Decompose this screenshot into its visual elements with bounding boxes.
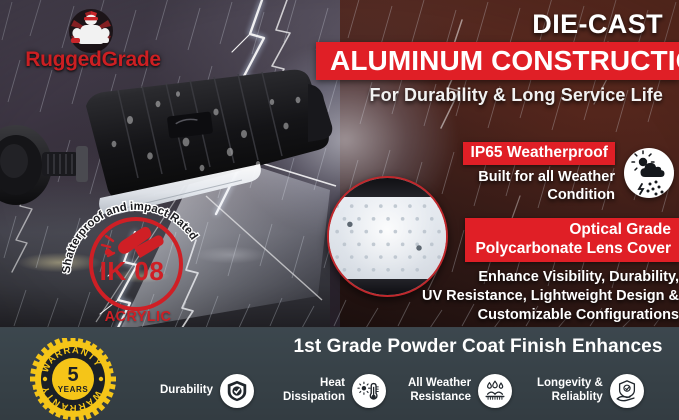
- product-feature-graphic: RuggedGrade: [0, 0, 679, 420]
- feature-label: Longevity & Reliablity: [537, 377, 603, 405]
- feature-label: Durability: [160, 384, 213, 398]
- ik08-rating: IK 08: [89, 258, 175, 284]
- warranty-unit: YEARS: [58, 385, 89, 394]
- feature-heat-dissipation: Heat Dissipation: [283, 374, 386, 408]
- sun-cloud-rain-icon: [624, 148, 674, 198]
- ip65-desc-line2: Condition: [452, 187, 615, 205]
- feature-bar-title: 1st Grade Powder Coat Finish Enhances: [286, 336, 670, 358]
- thermometer-sun-icon: [352, 374, 386, 408]
- ip65-text-block: IP65 Weatherproof Built for all Weather …: [452, 142, 615, 204]
- warranty-number: 5: [67, 364, 78, 386]
- ip65-badge: IP65 Weatherproof: [463, 142, 615, 165]
- feature-all-weather-resistance: All Weather Resistance: [408, 374, 512, 408]
- feature-label-line2: Reliablity: [537, 391, 603, 405]
- headline-block: DIE-CAST ALUMINUM CONSTRUCTION For Durab…: [316, 10, 679, 106]
- optical-description: Enhance Visibility, Durability, UV Resis…: [404, 268, 679, 325]
- warranty-seal-badge: WARRANTY WARRANTY 5 YEARS: [30, 338, 116, 420]
- ip65-desc-line1: Built for all Weather: [452, 169, 615, 187]
- optical-badge-line2: Polycarbonate Lens Cover: [475, 240, 671, 259]
- feature-label: All Weather Resistance: [408, 377, 471, 405]
- ip65-callout: IP65 Weatherproof Built for all Weather …: [452, 142, 679, 208]
- optical-desc-line3: Customizable Configurations: [404, 306, 679, 325]
- feature-longevity-reliability: Longevity & Reliablity: [537, 374, 644, 408]
- ik08-label-line1: ACRYLIC: [62, 309, 214, 326]
- feature-label-line1: Durability: [160, 384, 213, 398]
- optical-badge: Optical Grade Polycarbonate Lens Cover: [465, 218, 679, 262]
- water-repel-icon: [478, 374, 512, 408]
- optical-desc-line1: Enhance Visibility, Durability,: [404, 268, 679, 287]
- shield-check-icon: [220, 374, 254, 408]
- optical-badge-line1: Optical Grade: [475, 221, 671, 240]
- headline-subtitle: For Durability & Long Service Life: [316, 85, 679, 106]
- feature-label-line1: Longevity &: [537, 377, 603, 391]
- headline-line1: DIE-CAST: [316, 10, 679, 39]
- ik08-badge: Shatterproof and impact Rated IK 08 ACRY…: [62, 196, 227, 321]
- optical-desc-line2: UV Resistance, Lightweight Design &: [404, 287, 679, 306]
- feature-label-line1: All Weather: [408, 377, 471, 391]
- hand-shield-icon: [610, 374, 644, 408]
- optical-grade-callout: Optical Grade Polycarbonate Lens Cover E…: [404, 218, 679, 325]
- magnifier-housing-top: [327, 178, 448, 198]
- feature-label-line2: Resistance: [408, 391, 471, 405]
- feature-durability: Durability: [160, 374, 254, 408]
- feature-label: Heat Dissipation: [283, 377, 345, 405]
- headline-banner: ALUMINUM CONSTRUCTION: [316, 42, 679, 80]
- ip65-description: Built for all Weather Condition: [452, 169, 615, 204]
- feature-bar: WARRANTY WARRANTY 5 YEARS 1st Grade Powd…: [0, 327, 679, 420]
- feature-label-line2: Dissipation: [283, 391, 345, 405]
- feature-label-line1: Heat: [283, 377, 345, 391]
